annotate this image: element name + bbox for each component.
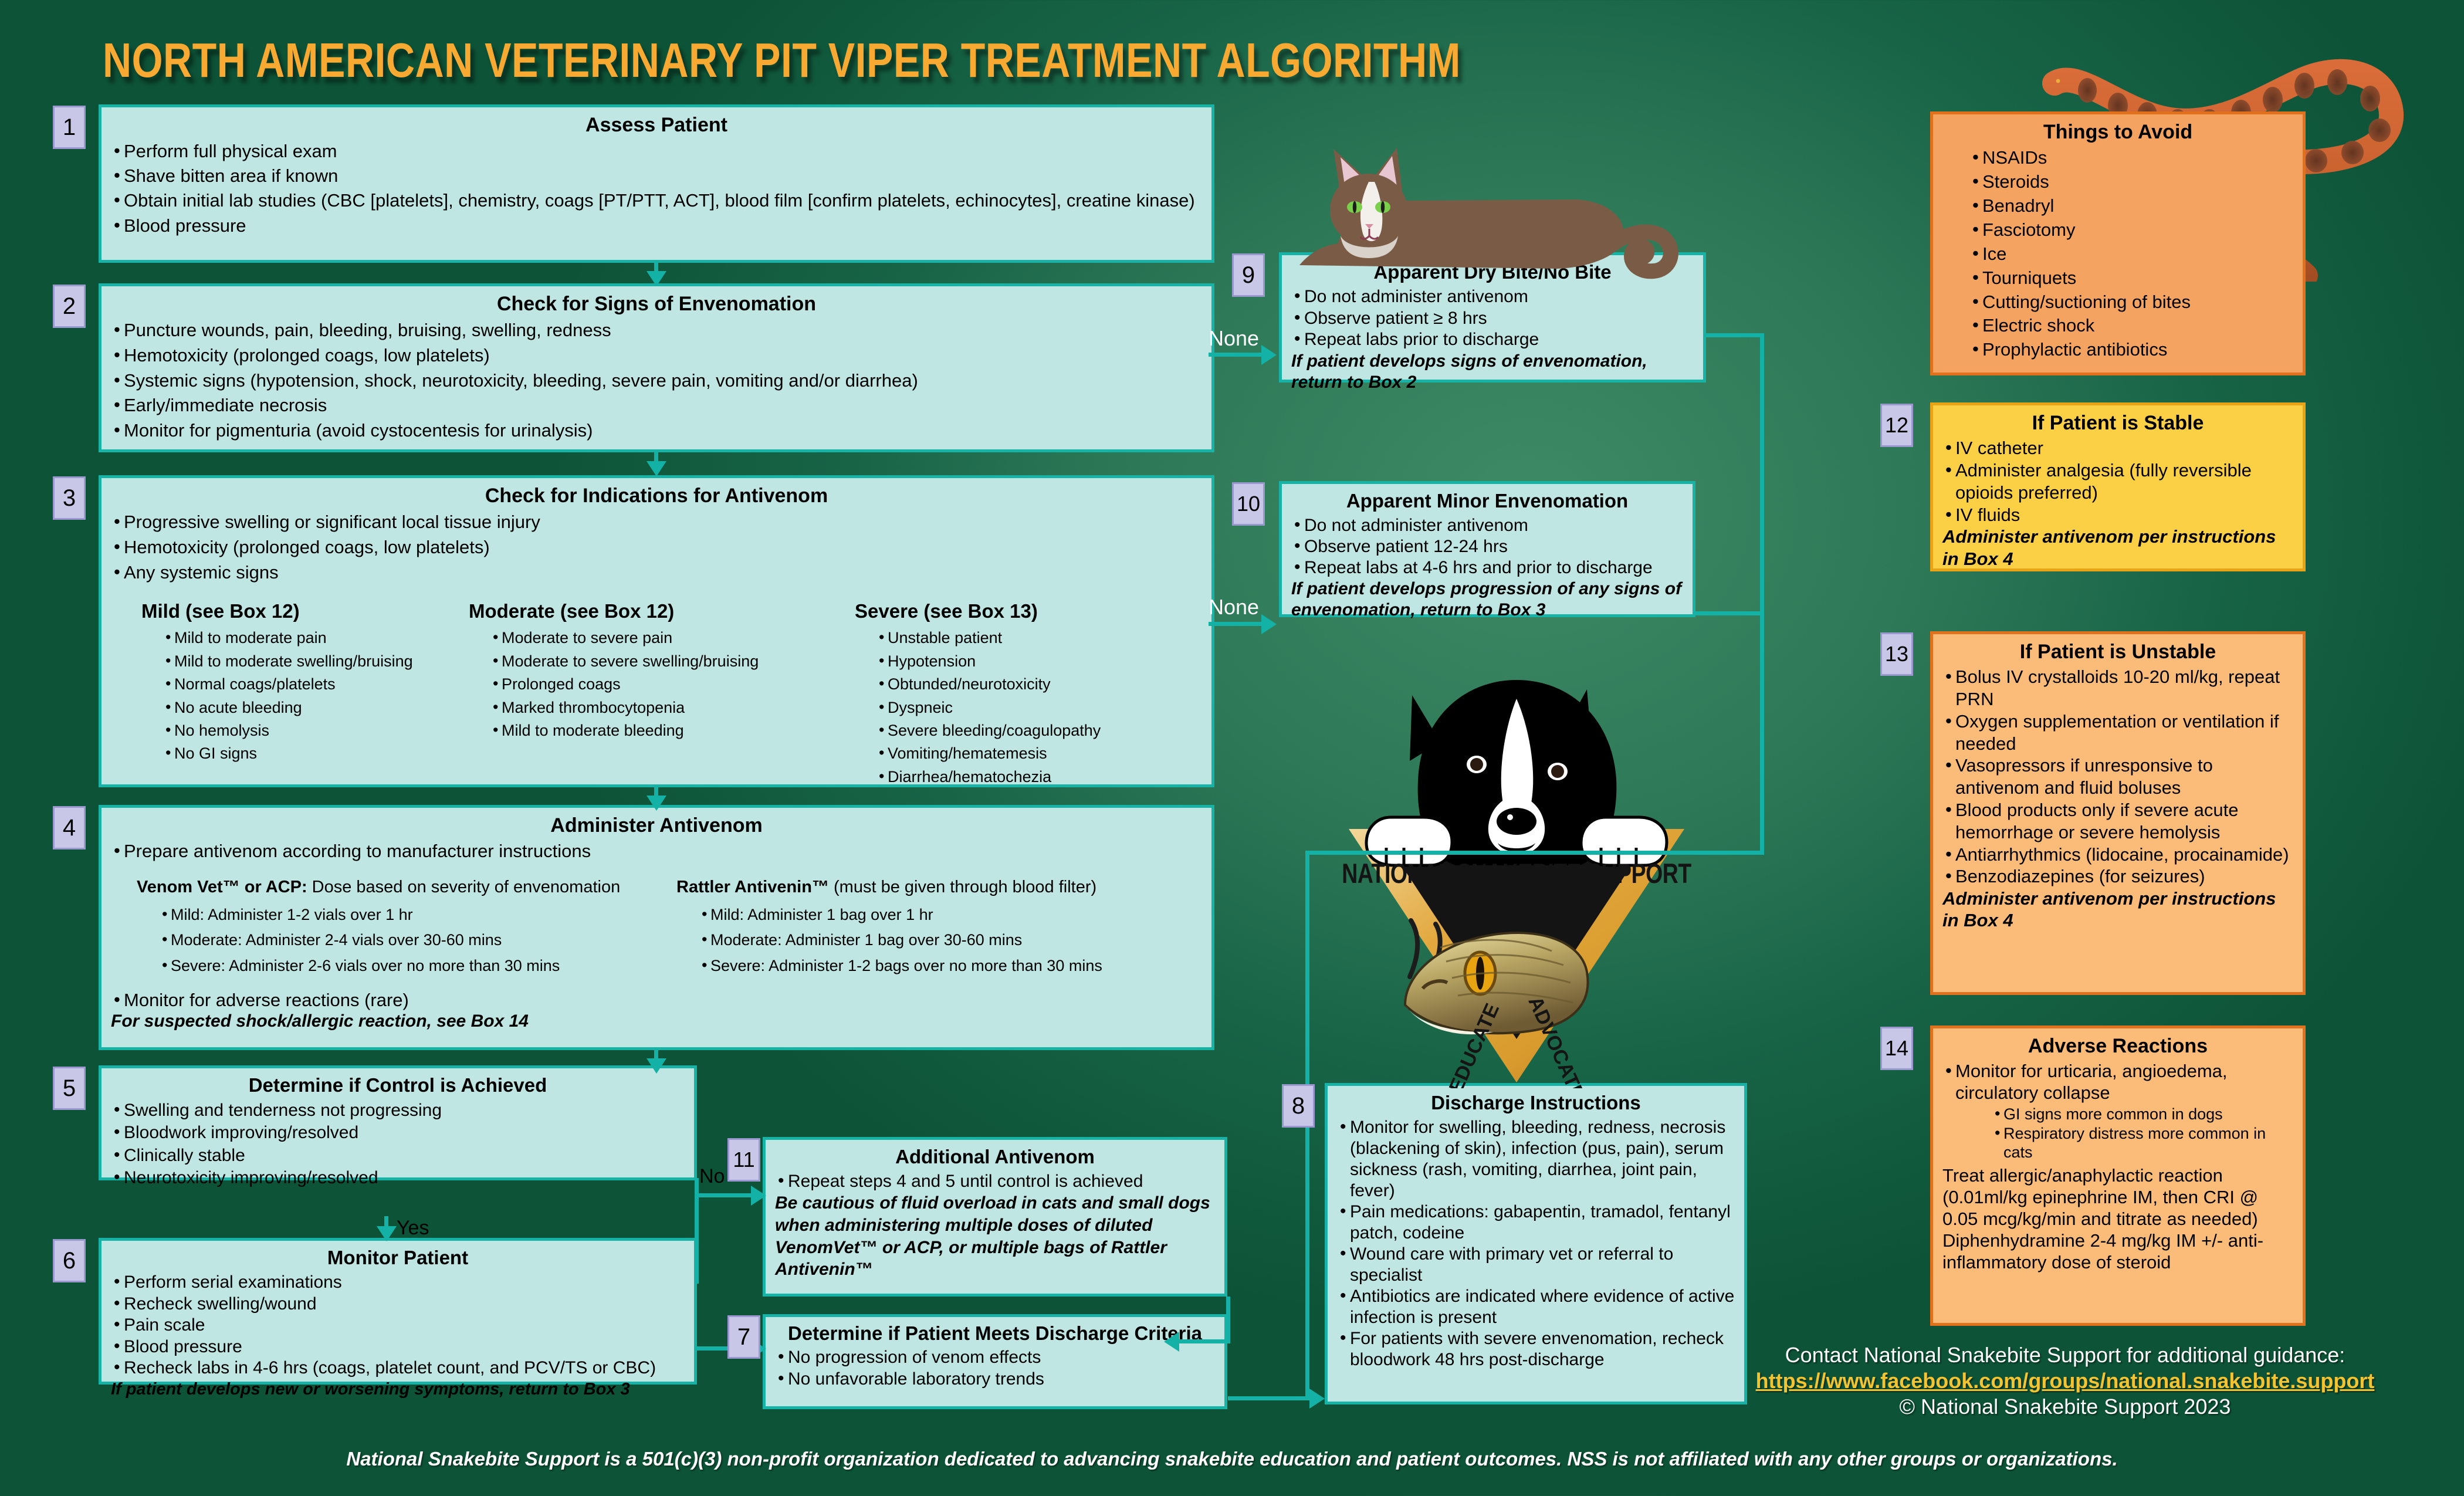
box-5-title: Determine if Control is Achieved [111, 1074, 685, 1097]
box-patient-stable: If Patient is Stable IV catheter Adminis… [1930, 402, 2306, 571]
list-item: Pain scale [111, 1315, 685, 1336]
list-item: Any systemic signs [111, 560, 1202, 585]
list-item: Monitor for urticaria, angioedema, circu… [1942, 1060, 2293, 1104]
list-item: Oxygen supplementation or ventilation if… [1942, 710, 2293, 755]
list-item: Repeat labs at 4-6 hrs and prior to disc… [1291, 557, 1683, 578]
box-7-list: No progression of venom effects No unfav… [775, 1346, 1215, 1390]
connector-11-7-v [1226, 1297, 1230, 1343]
connector-11-7-h [1173, 1339, 1230, 1343]
list-item: Observe patient 12-24 hrs [1291, 536, 1683, 557]
box-assess-patient: Assess Patient Perform full physical exa… [99, 104, 1214, 263]
box-administer-antivenom: Administer Antivenom Prepare antivenom a… [99, 805, 1214, 1050]
list-item: No acute bleeding [163, 696, 446, 719]
avoid-list: NSAIDs Steroids Benadryl Fasciotomy Ice … [1942, 146, 2293, 362]
step-tag-10: 10 [1232, 482, 1265, 526]
step-tag-4: 4 [53, 806, 86, 849]
box-signs-envenomation: Check for Signs of Envenomation Puncture… [99, 283, 1214, 452]
list-item: Ice [1969, 242, 2293, 266]
step-tag-11: 11 [727, 1138, 760, 1182]
contact-block: Contact National Snakebite Support for a… [1698, 1342, 2432, 1420]
list-item: Prolonged coags [490, 673, 832, 696]
list-item: Monitor for swelling, bleeding, redness,… [1337, 1117, 1735, 1201]
list-item: Repeat labs prior to discharge [1291, 329, 1694, 351]
list-item: No unfavorable laboratory trends [775, 1368, 1215, 1390]
connector-7-8 [1228, 1396, 1313, 1400]
connector-2-9-h [1209, 353, 1264, 357]
avoid-title: Things to Avoid [1942, 120, 2293, 144]
box-13-list: Bolus IV crystalloids 10-20 ml/kg, repea… [1942, 666, 2293, 888]
box-11-title: Additional Antivenom [775, 1146, 1215, 1169]
logo-org-name: NATIONAL SNAKEBITE SUPPORT [1342, 858, 1691, 889]
antivenom-product-desc: (must be given through blood filter) [829, 878, 1096, 896]
box-4-lead: Prepare antivenom according to manufactu… [111, 840, 1202, 863]
list-item: Blood products only if severe acute hemo… [1942, 799, 2293, 844]
list-item: Electric shock [1969, 314, 2293, 338]
edge-label-none-1: None [1209, 326, 1259, 351]
box-12-list: IV catheter Administer analgesia (fully … [1942, 437, 2293, 526]
severity-heading: Mild (see Box 12) [141, 600, 446, 623]
list-item: Shave bitten area if known [111, 164, 1202, 188]
list-item: Moderate to severe swelling/bruising [490, 650, 832, 673]
box-11-list: Repeat steps 4 and 5 until control is ac… [775, 1171, 1215, 1192]
list-item: Vomiting/hematemesis [876, 742, 1183, 765]
arrow-3-10 [1261, 614, 1277, 634]
box-7-title: Determine if Patient Meets Discharge Cri… [775, 1323, 1215, 1344]
list-item: No progression of venom effects [775, 1346, 1215, 1368]
step-tag-8: 8 [1282, 1084, 1315, 1128]
list-item: Steroids [1969, 170, 2293, 194]
box-12-note: Administer antivenom per instructions in… [1942, 526, 2293, 569]
box-things-to-avoid: Things to Avoid NSAIDs Steroids Benadryl… [1930, 111, 2306, 375]
list-item: Monitor for adverse reactions (rare) [111, 990, 1202, 1011]
severity-heading: Moderate (see Box 12) [469, 600, 832, 623]
page-title: NORTH AMERICAN VETERINARY PIT VIPER TREA… [103, 32, 1461, 88]
box-5-list: Swelling and tenderness not progressing … [111, 1099, 685, 1190]
list-item: Perform serial examinations [111, 1272, 685, 1294]
antivenom-dose-list: Mild: Administer 1 bag over 1 hr Moderat… [676, 902, 1193, 979]
severity-list: Mild to moderate pain Mild to moderate s… [141, 627, 446, 765]
step-tag-13: 13 [1880, 632, 1913, 676]
box-14-sublist: GI signs more common in dogs Respiratory… [1942, 1105, 2293, 1162]
list-item: Monitor for pigmenturia (avoid cystocent… [111, 418, 1202, 444]
box-6-note: If patient develops new or worsening sym… [111, 1379, 685, 1399]
list-item: Mild to moderate bleeding [490, 719, 832, 742]
arrow-7-8 [1309, 1389, 1325, 1409]
edge-label-no: No [699, 1165, 725, 1188]
box-14-title: Adverse Reactions [1942, 1034, 2293, 1058]
box-4-title: Administer Antivenom [111, 814, 1202, 837]
box-6-list: Perform serial examinations Recheck swel… [111, 1272, 685, 1379]
box-14-list: Monitor for urticaria, angioedema, circu… [1942, 1060, 2293, 1104]
list-item: Progressive swelling or significant loca… [111, 510, 1202, 535]
list-item: Do not administer antivenom [1291, 515, 1683, 536]
list-item: Benadryl [1969, 194, 2293, 218]
step-tag-2: 2 [53, 285, 86, 328]
step-tag-14: 14 [1880, 1027, 1913, 1070]
box-adverse-reactions: Adverse Reactions Monitor for urticaria,… [1930, 1025, 2306, 1326]
box-3-list: Progressive swelling or significant loca… [111, 510, 1202, 585]
list-item: Prophylactic antibiotics [1969, 338, 2293, 362]
infographic-canvas: NORTH AMERICAN VETERINARY PIT VIPER TREA… [0, 0, 2464, 1496]
box-indications-antivenom: Check for Indications for Antivenom Prog… [99, 475, 1214, 787]
box-9-list: Do not administer antivenom Observe pati… [1291, 286, 1694, 351]
list-item: Clinically stable [111, 1145, 685, 1167]
box-6-title: Monitor Patient [111, 1247, 685, 1270]
connector-9-spine [1760, 333, 1764, 854]
list-item: Cutting/suctioning of bites [1969, 290, 2293, 314]
box-minor-envenomation: Apparent Minor Envenomation Do not admin… [1279, 481, 1695, 617]
list-item: For patients with severe envenomation, r… [1337, 1328, 1735, 1370]
connector-9-right [1704, 333, 1764, 337]
edge-label-none-2: None [1209, 595, 1259, 620]
list-item: Bolus IV crystalloids 10-20 ml/kg, repea… [1942, 666, 2293, 710]
list-item: Repeat steps 4 and 5 until control is ac… [775, 1171, 1215, 1192]
antivenom-product-name: Venom Vet™ or ACP: [137, 878, 307, 896]
box-13-note: Administer antivenom per instructions in… [1942, 888, 2293, 931]
contact-line: Contact National Snakebite Support for a… [1698, 1342, 2432, 1368]
list-item: Recheck labs in 4-6 hrs (coags, platelet… [111, 1358, 685, 1379]
list-item: Moderate: Administer 2-4 vials over 30-6… [159, 928, 665, 953]
list-item: Antibiotics are indicated where evidence… [1337, 1286, 1735, 1328]
arrow-11-7 [1164, 1332, 1179, 1352]
list-item: NSAIDs [1969, 146, 2293, 170]
list-item: Administer analgesia (fully reversible o… [1942, 459, 2293, 504]
box-14-para-1: Treat allergic/anaphylactic reaction (0.… [1942, 1165, 2293, 1230]
box-14-para-2: Diphenhydramine 2-4 mg/kg IM +/- anti-in… [1942, 1230, 2293, 1273]
list-item: No GI signs [163, 742, 446, 765]
box-2-list: Puncture wounds, pain, bleeding, bruisin… [111, 318, 1202, 444]
step-tag-7: 7 [727, 1315, 760, 1359]
list-item: Neurotoxicity improving/resolved [111, 1167, 685, 1189]
box-8-list: Monitor for swelling, bleeding, redness,… [1337, 1117, 1735, 1370]
arrow-3-4 [647, 796, 666, 811]
box-patient-unstable: If Patient is Unstable Bolus IV crystall… [1930, 631, 2306, 995]
box-additional-antivenom: Additional Antivenom Repeat steps 4 and … [763, 1137, 1227, 1297]
arrow-5-11 [751, 1186, 766, 1206]
list-item: IV catheter [1942, 437, 2293, 459]
list-item: Hemotoxicity (prolonged coags, low plate… [111, 535, 1202, 560]
list-item: Vasopressors if unresponsive to antiveno… [1942, 754, 2293, 799]
list-item: Severe bleeding/coagulopathy [876, 719, 1183, 742]
box-4-note: For suspected shock/allergic reaction, s… [111, 1011, 1202, 1031]
box-discharge-instructions: Discharge Instructions Monitor for swell… [1325, 1083, 1747, 1404]
step-tag-5: 5 [53, 1067, 86, 1110]
antivenom-column-venomvet: Venom Vet™ or ACP: Dose based on severit… [137, 877, 665, 979]
edge-label-yes: Yes [397, 1217, 429, 1240]
arrow-4-5 [647, 1058, 666, 1074]
connector-spine-h [1305, 851, 1764, 855]
list-item: Tourniquets [1969, 266, 2293, 290]
list-item: Puncture wounds, pain, bleeding, bruisin… [111, 318, 1202, 343]
list-item: Pain medications: gabapentin, tramadol, … [1337, 1201, 1735, 1244]
list-item: Observe patient ≥ 8 hrs [1291, 308, 1694, 330]
severity-list: Unstable patient Hypotension Obtunded/ne… [855, 627, 1183, 788]
antivenom-product-name: Rattler Antivenin™ [676, 878, 829, 896]
list-item: Mild to moderate pain [163, 627, 446, 649]
arrow-2-3 [647, 461, 666, 476]
connector-10-right [1695, 611, 1764, 615]
severity-heading: Severe (see Box 13) [855, 600, 1183, 623]
list-item: Dyspneic [876, 696, 1183, 719]
box-2-title: Check for Signs of Envenomation [111, 292, 1202, 316]
list-item: No hemolysis [163, 719, 446, 742]
list-item: Benzodiazepines (for seizures) [1942, 865, 2293, 888]
list-item: Diarrhea/hematochezia [876, 766, 1183, 788]
list-item: Moderate: Administer 1 bag over 30-60 mi… [699, 928, 1193, 953]
connector-5-11-h [695, 1193, 753, 1197]
box-1-list: Perform full physical exam Shave bitten … [111, 139, 1202, 238]
copyright-line: © National Snakebite Support 2023 [1698, 1394, 2432, 1420]
box-10-list: Do not administer antivenom Observe pati… [1291, 515, 1683, 578]
box-4-tail: Monitor for adverse reactions (rare) [111, 990, 1202, 1011]
connector-3-10-h [1209, 622, 1264, 626]
antivenom-product-desc: Dose based on severity of envenomation [307, 878, 621, 896]
step-tag-3: 3 [53, 476, 86, 520]
box-8-title: Discharge Instructions [1337, 1092, 1735, 1115]
box-monitor-patient: Monitor Patient Perform serial examinati… [99, 1238, 697, 1385]
severity-column-mild: Mild (see Box 12) Mild to moderate pain … [141, 600, 446, 788]
list-item: GI signs more common in dogs [1992, 1105, 2293, 1123]
box-9-note: If patient develops signs of envenomatio… [1291, 351, 1694, 393]
box-13-title: If Patient is Unstable [1942, 640, 2293, 664]
list-item: Obtain initial lab studies (CBC [platele… [111, 188, 1202, 213]
arrow-5-6 [377, 1226, 397, 1241]
list-item: Fasciotomy [1969, 218, 2293, 242]
list-item: Marked thrombocytopenia [490, 696, 832, 719]
step-tag-12: 12 [1880, 404, 1913, 447]
step-tag-1: 1 [53, 106, 86, 149]
list-item: Prepare antivenom according to manufactu… [111, 840, 1202, 863]
list-item: Obtunded/neurotoxicity [876, 673, 1183, 696]
list-item: Do not administer antivenom [1291, 286, 1694, 308]
severity-column-moderate: Moderate (see Box 12) Moderate to severe… [469, 600, 832, 788]
box-10-note: If patient develops progression of any s… [1291, 578, 1683, 621]
list-item: Hemotoxicity (prolonged coags, low plate… [111, 343, 1202, 368]
step-tag-6: 6 [53, 1239, 86, 1282]
arrow-2-9 [1261, 345, 1277, 365]
list-item: IV fluids [1942, 504, 2293, 526]
list-item: Recheck swelling/wound [111, 1294, 685, 1315]
arrow-1-2 [647, 271, 666, 286]
antivenom-column-rattler: Rattler Antivenin™ (must be given throug… [676, 877, 1193, 979]
box-control-achieved: Determine if Control is Achieved Swellin… [99, 1065, 697, 1180]
box-discharge-criteria: Determine if Patient Meets Discharge Cri… [763, 1314, 1227, 1409]
list-item: Bloodwork improving/resolved [111, 1122, 685, 1144]
box-3-title: Check for Indications for Antivenom [111, 484, 1202, 507]
list-item: Respiratory distress more common in cats [1992, 1124, 2293, 1162]
list-item: Hypotension [876, 650, 1183, 673]
list-item: Blood pressure [111, 214, 1202, 238]
box-1-title: Assess Patient [111, 113, 1202, 137]
list-item: Severe: Administer 1-2 bags over no more… [699, 953, 1193, 979]
list-item: Blood pressure [111, 1336, 685, 1358]
list-item: Systemic signs (hypotension, shock, neur… [111, 368, 1202, 394]
list-item: Severe: Administer 2-6 vials over no mor… [159, 953, 665, 979]
step-tag-9: 9 [1232, 253, 1265, 297]
box-12-title: If Patient is Stable [1942, 411, 2293, 435]
list-item: Mild: Administer 1 bag over 1 hr [699, 902, 1193, 928]
list-item: Antiarrhythmics (lidocaine, procainamide… [1942, 844, 2293, 866]
severity-list: Moderate to severe pain Moderate to seve… [469, 627, 832, 742]
antivenom-dose-list: Mild: Administer 1-2 vials over 1 hr Mod… [137, 902, 665, 979]
list-item: Unstable patient [876, 627, 1183, 649]
list-item: Perform full physical exam [111, 139, 1202, 164]
nss-logo: NATIONAL SNAKEBITE SUPPORT EDUCATE ADVOC… [1341, 672, 1693, 1088]
list-item: Mild: Administer 1-2 vials over 1 hr [159, 902, 665, 928]
list-item: Normal coags/platelets [163, 673, 446, 696]
box-10-title: Apparent Minor Envenomation [1291, 490, 1683, 513]
severity-column-severe: Severe (see Box 13) Unstable patient Hyp… [855, 600, 1183, 788]
list-item: Swelling and tenderness not progressing [111, 1099, 685, 1122]
box-11-note: Be cautious of fluid overload in cats an… [775, 1192, 1215, 1281]
list-item: Wound care with primary vet or referral … [1337, 1244, 1735, 1286]
list-item: Moderate to severe pain [490, 627, 832, 649]
list-item: Early/immediate necrosis [111, 393, 1202, 418]
cat-illustration [1282, 111, 1693, 282]
facebook-group-link[interactable]: https://www.facebook.com/groups/national… [1698, 1368, 2432, 1394]
list-item: Mild to moderate swelling/bruising [163, 650, 446, 673]
disclaimer-text: National Snakebite Support is a 501(c)(3… [0, 1448, 2464, 1470]
